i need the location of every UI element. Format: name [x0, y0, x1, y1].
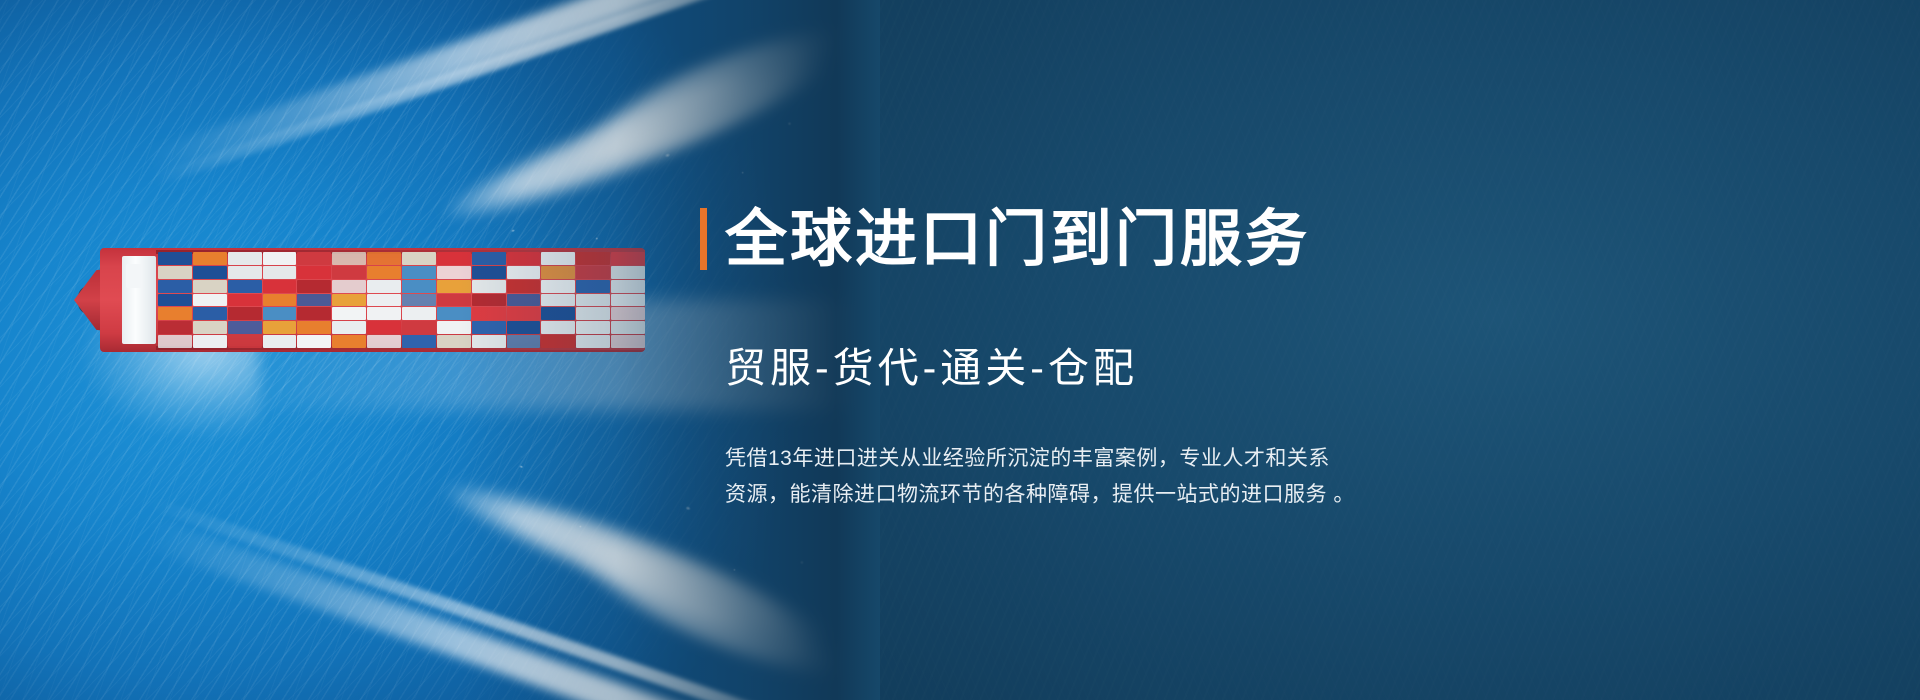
description-line-1: 凭借13年进口进关从业经验所沉淀的丰富案例，专业人才和关系	[725, 441, 1445, 477]
banner-description: 凭借13年进口进关从业经验所沉淀的丰富案例，专业人才和关系 资源，能清除进口物流…	[725, 441, 1445, 513]
description-line-2: 资源，能清除进口物流环节的各种障碍，提供一站式的进口服务 。	[725, 477, 1445, 513]
banner-title: 全球进口门到门服务	[725, 208, 1310, 271]
accent-bar-icon	[700, 208, 707, 270]
banner-content: 全球进口门到门服务 贸服-货代-通关-仓配 凭借13年进口进关从业经验所沉淀的丰…	[700, 0, 1820, 700]
banner-subtitle: 贸服-货代-通关-仓配	[725, 346, 1820, 391]
hero-banner: 全球进口门到门服务 贸服-货代-通关-仓配 凭借13年进口进关从业经验所沉淀的丰…	[0, 0, 1920, 700]
title-row: 全球进口门到门服务	[700, 166, 1820, 312]
